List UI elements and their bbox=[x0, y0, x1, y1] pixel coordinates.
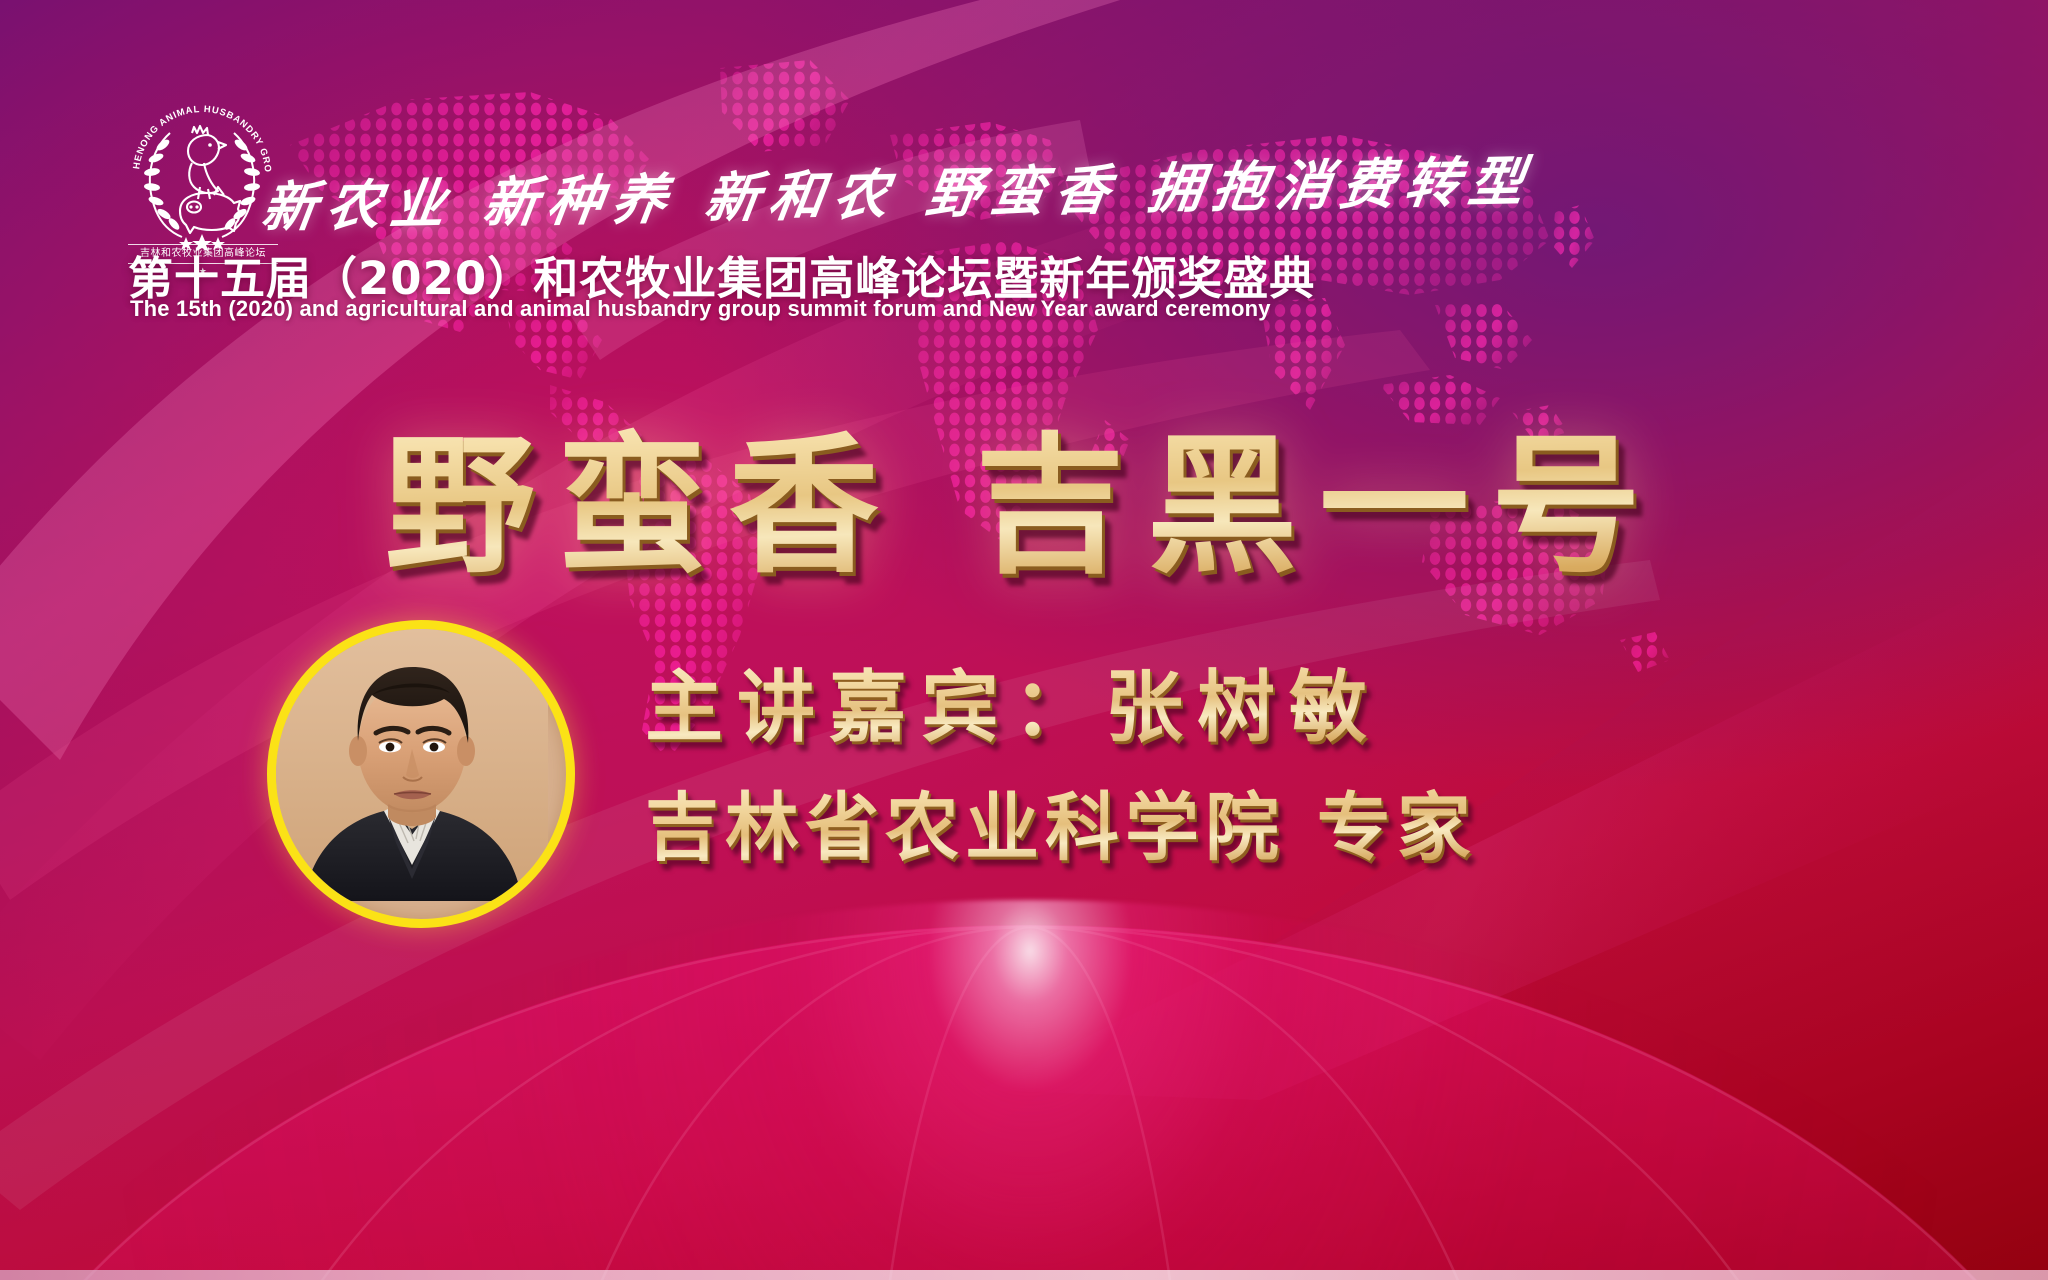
rooster-icon bbox=[188, 126, 226, 199]
speaker-affiliation-line: 吉林省农业科学院 专家 bbox=[645, 768, 1477, 875]
company-logo: CHINA JILIN HENONG ANIMAL HUSBANDRY GROU… bbox=[122, 95, 282, 255]
bottom-light-strip bbox=[0, 1270, 2048, 1280]
speaker-name-line: 主讲嘉宾：张树敏 bbox=[645, 645, 1381, 757]
poster-slide: CHINA JILIN HENONG ANIMAL HUSBANDRY GROU… bbox=[0, 0, 2048, 1280]
logo-emblem-icon: CHINA JILIN HENONG ANIMAL HUSBANDRY GROU… bbox=[122, 95, 282, 255]
speaker-portrait bbox=[267, 620, 575, 928]
forum-subtitle-en: The 15th (2020) and agricultural and ani… bbox=[130, 296, 1271, 322]
portrait-illustration bbox=[276, 629, 548, 901]
main-title: 野蛮香 吉黑一号 bbox=[0, 385, 2048, 602]
